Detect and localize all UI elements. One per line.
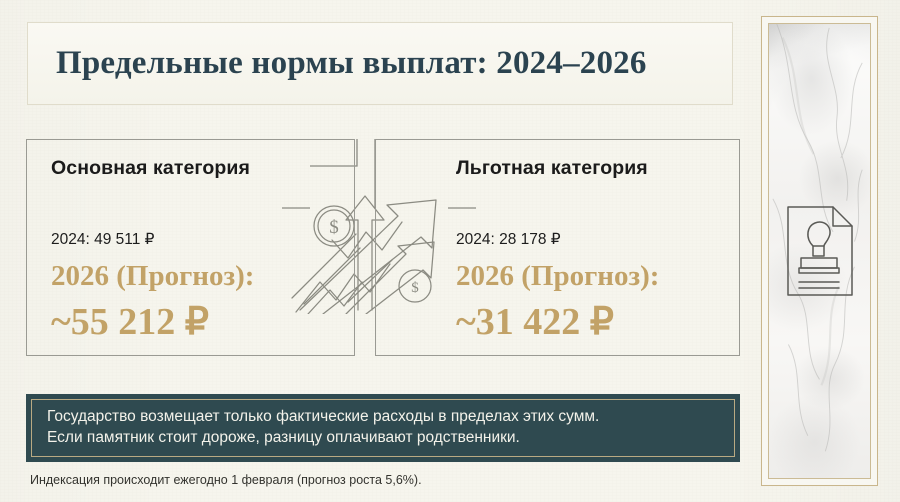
- title-banner: Предельные нормы выплат: 2024–2026: [27, 22, 733, 105]
- infographic-slide: Предельные нормы выплат: 2024–2026: [0, 0, 900, 502]
- marble-texture: [768, 23, 871, 479]
- info-banner: Государство возмещает только фактические…: [26, 394, 740, 462]
- stamp-neck: [813, 246, 824, 256]
- side-marble-panel: [761, 16, 878, 486]
- document-with-stamp-icon: [783, 204, 857, 298]
- vein-thick-1: [783, 38, 814, 155]
- card-privileged-category: Льготная категория 2024: 28 178 ₽ 2026 (…: [375, 139, 740, 356]
- footnote-text: Индексация происходит ежегодно 1 февраля…: [30, 473, 422, 487]
- page-title: Предельные нормы выплат: 2024–2026: [56, 45, 647, 82]
- vein-3: [841, 63, 862, 158]
- vein-2: [827, 28, 848, 201]
- vein-thick-2: [821, 286, 838, 385]
- vein-1: [777, 24, 833, 232]
- card-forecast-value-privileged: ~31 422 ₽: [456, 303, 614, 341]
- card-forecast-label-main: 2026 (Прогноз):: [51, 262, 254, 291]
- info-banner-text: Государство возмещает только фактические…: [47, 406, 726, 448]
- card-main-category: Основная категория 2024: 49 511 ₽ 2026 (…: [26, 139, 355, 356]
- vein-6: [788, 344, 807, 435]
- stamp-handle: [807, 222, 829, 246]
- card-forecast-value-main: ~55 212 ₽: [51, 303, 209, 341]
- stamp-foot: [799, 268, 839, 273]
- card-forecast-label-privileged: 2026 (Прогноз):: [456, 262, 659, 291]
- card-title-main: Основная категория: [51, 157, 250, 180]
- card-baseline-privileged: 2024: 28 178 ₽: [456, 230, 561, 249]
- stamp-base: [801, 258, 837, 268]
- card-title-privileged: Льготная категория: [456, 157, 648, 180]
- card-baseline-main: 2024: 49 511 ₽: [51, 230, 155, 249]
